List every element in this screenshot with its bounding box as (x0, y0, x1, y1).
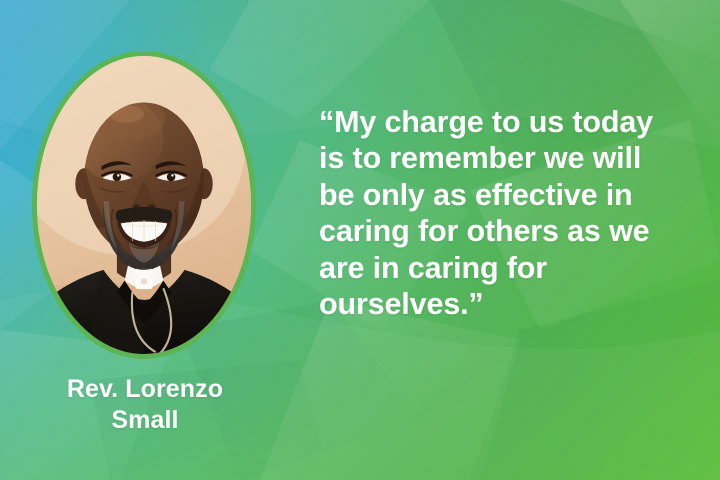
speaker-name: Rev. Lorenzo Small (10, 374, 280, 435)
quote-line-1: “My charge to us today (319, 104, 711, 140)
speaker-name-line-2: Small (111, 406, 178, 434)
quote-text: “My charge to us today is to remember we… (319, 104, 711, 323)
quote-line-2: is to remember we will (319, 140, 711, 176)
speaker-name-line-1: Rev. Lorenzo (67, 375, 223, 403)
quote-line-5: are in caring for (319, 250, 711, 286)
quote-line-4: caring for others as we (319, 213, 711, 249)
quote-line-6: ourselves.” (319, 286, 711, 322)
portrait-illustration (37, 56, 251, 354)
portrait-oval-frame (32, 51, 256, 359)
quote-card: Rev. Lorenzo Small “My charge to us toda… (0, 0, 720, 480)
quote-line-3: be only as effective in (319, 177, 711, 213)
speaker-portrait (32, 51, 256, 359)
